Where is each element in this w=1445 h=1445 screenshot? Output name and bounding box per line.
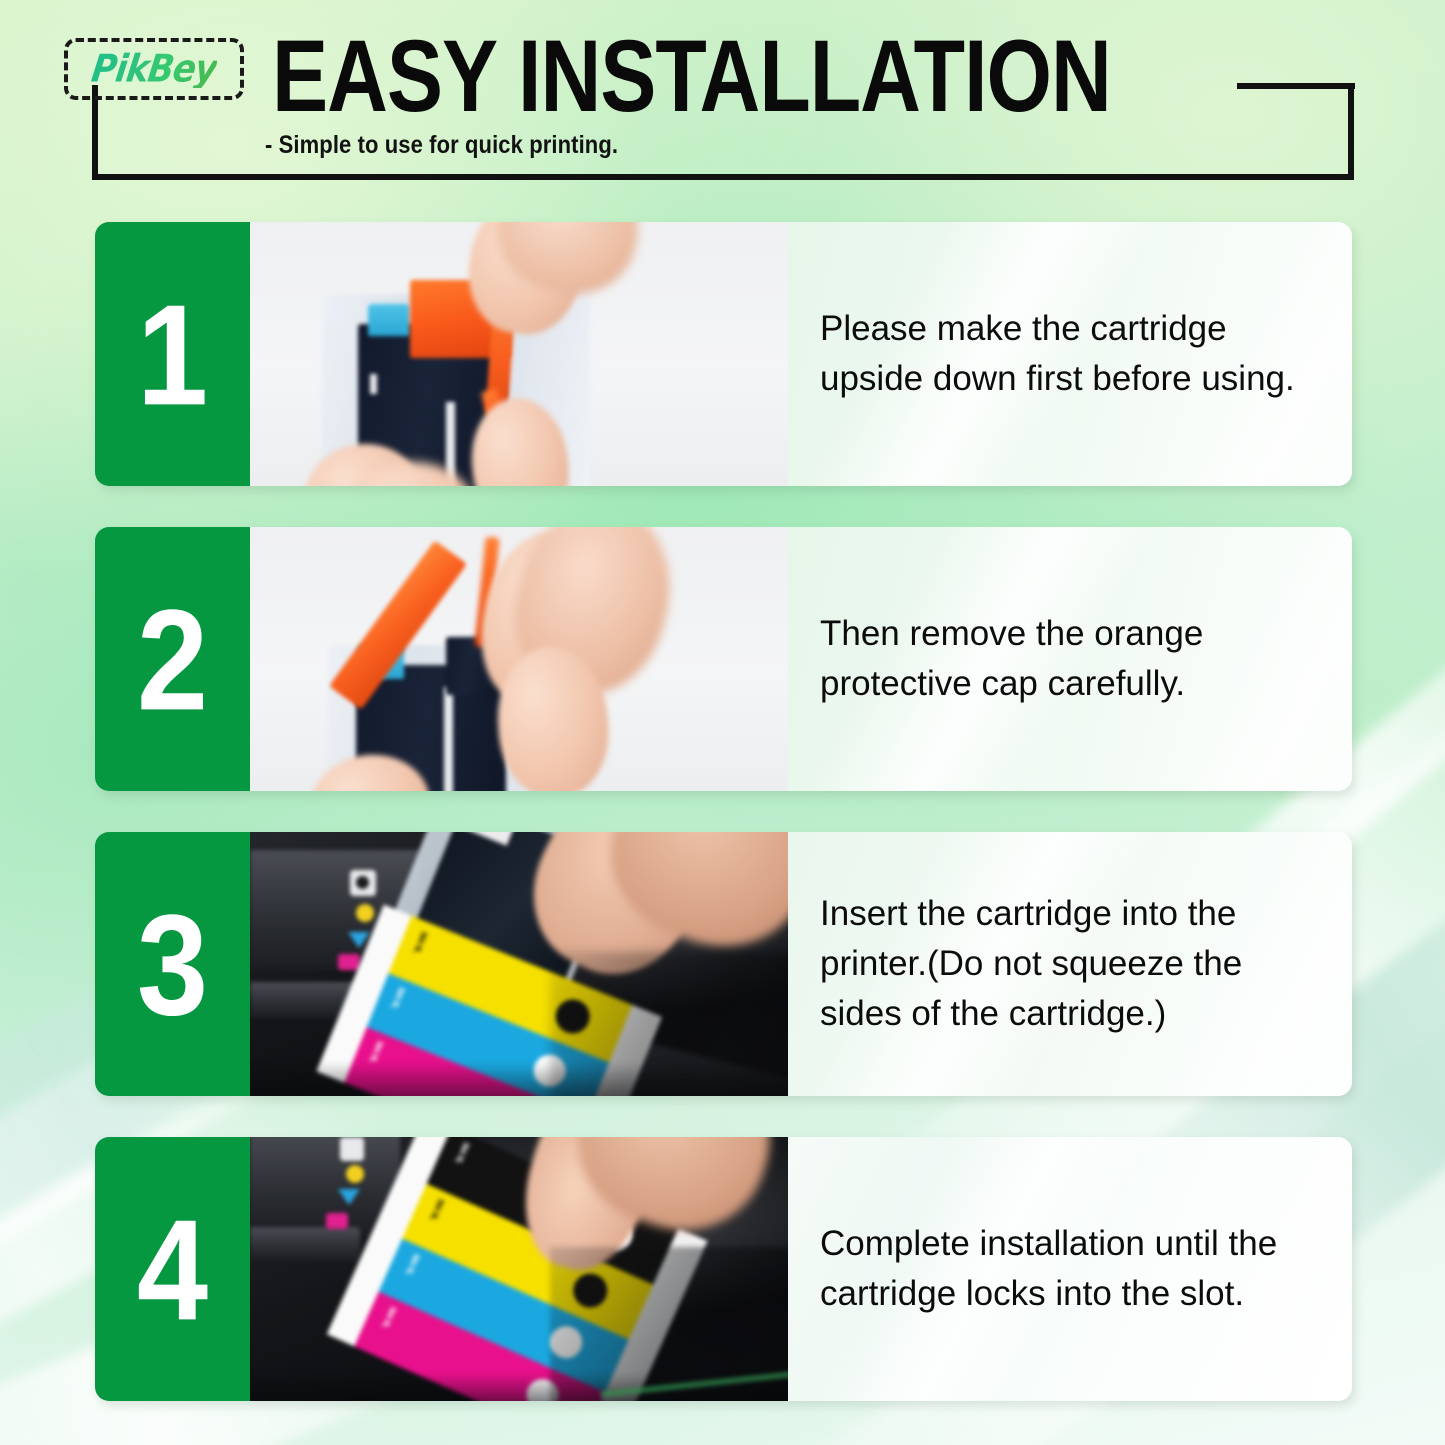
step-number-3: 3 [137,895,208,1038]
step-number-4: 4 [137,1200,208,1343]
page-title: EASY INSTALLATION [272,26,1111,128]
step-text-pane-2: Then remove the orange protective cap ca… [788,527,1352,791]
step-text-pane-4: Complete installation until the cartridg… [788,1137,1352,1401]
step-image-2 [250,527,788,791]
step-card-3: 3 564 XL [95,832,1352,1096]
step-number-pane-4: 4 [95,1137,250,1401]
step-description-3: Insert the cartridge into the printer.(D… [788,889,1352,1038]
logo-dashed-box: PikBey [64,38,244,100]
step-image-3: 564 XL 564 XL 564 XL 564 XL [250,832,788,1096]
step-text-pane-3: Insert the cartridge into the printer.(D… [788,832,1352,1096]
brand-logo: PikBey [89,50,219,88]
page-subtitle: - Simple to use for quick printing. [265,130,618,160]
step-description-1: Please make the cartridge upside down fi… [788,304,1352,403]
step-text-pane-1: Please make the cartridge upside down fi… [788,222,1352,486]
steps-list: 1 [0,0,1445,1445]
step-card-4: 4 564 XL 564 XL [95,1137,1352,1401]
header: PikBey EASY INSTALLATION - Simple to use… [0,0,1445,205]
step-image-1 [250,222,788,486]
header-frame-top-segment [1237,83,1355,89]
step-description-2: Then remove the orange protective cap ca… [788,609,1352,708]
step-number-2: 2 [137,590,208,733]
step-description-4: Complete installation until the cartridg… [788,1219,1352,1318]
step-number-pane-3: 3 [95,832,250,1096]
step-number-1: 1 [137,285,208,428]
step-card-1: 1 [95,222,1352,486]
step-card-2: 2 Then remove the orange [95,527,1352,791]
step-image-4: 564 XL 564 XL 564 XL 564 XL [250,1137,788,1401]
step-number-pane-1: 1 [95,222,250,486]
step-number-pane-2: 2 [95,527,250,791]
